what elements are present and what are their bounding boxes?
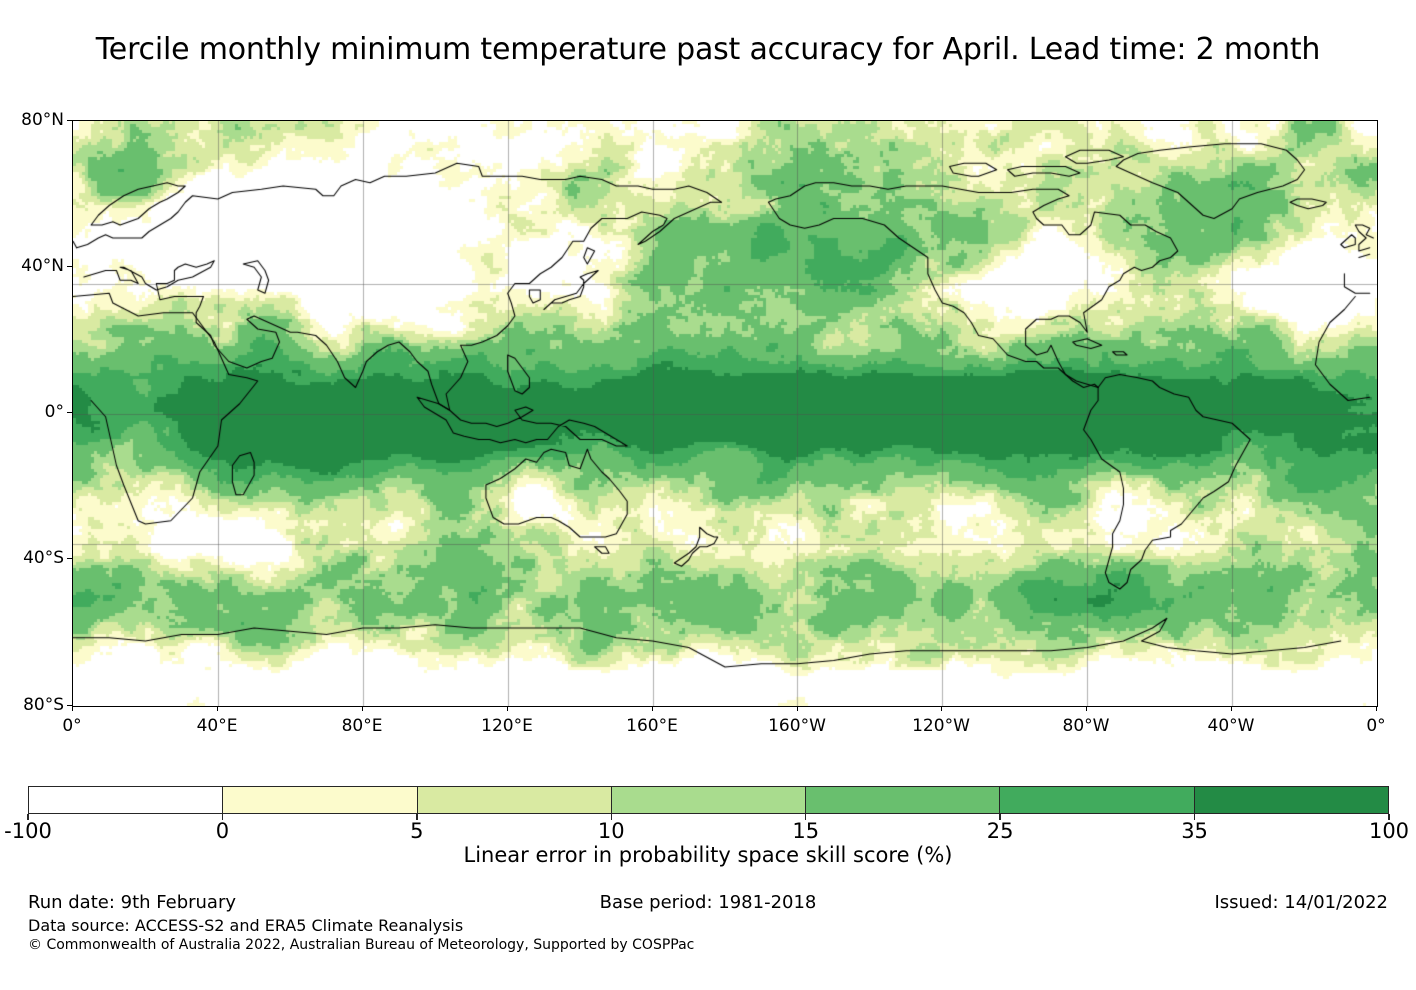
colorbar-band-5	[999, 787, 1193, 813]
colorbar-tick-label-0: -100	[4, 819, 52, 843]
ytick-label-0: 0°	[8, 402, 64, 422]
colorbar-tick-label-4: 15	[792, 819, 819, 843]
colorbar-band-0	[29, 787, 222, 813]
xtick-mark	[217, 706, 218, 711]
colorbar-tick-label-3: 10	[598, 819, 625, 843]
xtick-mark	[1086, 706, 1087, 711]
colorbar-tick-label-5: 25	[987, 819, 1014, 843]
xtick-mark	[941, 706, 942, 711]
xtick-label-0e: 0°	[62, 716, 81, 736]
colorbar	[28, 786, 1389, 814]
footer-base-period: Base period: 1981-2018	[0, 892, 1416, 913]
xtick-label-80e: 80°E	[342, 716, 383, 736]
colorbar-band-2	[417, 787, 611, 813]
xtick-mark	[652, 706, 653, 711]
colorbar-band-3	[611, 787, 805, 813]
xtick-label-160e: 160°E	[626, 716, 678, 736]
ytick-label-80s: 80°S	[8, 695, 64, 715]
xtick-label-80w: 80°W	[1063, 716, 1110, 736]
xtick-label-160w: 160°W	[768, 716, 826, 736]
colorbar-bands	[28, 786, 1389, 814]
ytick-label-40s: 40°S	[8, 548, 64, 568]
colorbar-tick-label-2: 5	[410, 819, 423, 843]
footer: Run date: 9th February Base period: 1981…	[0, 892, 1416, 962]
xtick-mark	[362, 706, 363, 711]
colorbar-band-6	[1194, 787, 1388, 813]
ytick-label-80n: 80°N	[8, 110, 64, 130]
xtick-mark	[72, 706, 73, 711]
page-title: Tercile monthly minimum temperature past…	[0, 32, 1416, 67]
colorbar-band-4	[805, 787, 999, 813]
ytick-label-40n: 40°N	[8, 256, 64, 276]
colorbar-axis-label: Linear error in probability space skill …	[0, 843, 1416, 867]
ytick-mark	[67, 266, 72, 267]
skill-score-heatmap	[73, 121, 1377, 706]
colorbar-tick-label-1: 0	[216, 819, 229, 843]
footer-copyright: © Commonwealth of Australia 2022, Austra…	[28, 937, 694, 953]
xtick-label-120e: 120°E	[481, 716, 533, 736]
footer-data-source: Data source: ACCESS-S2 and ERA5 Climate …	[28, 916, 463, 935]
footer-top-row: Run date: 9th February Base period: 1981…	[0, 892, 1416, 914]
xtick-mark	[1231, 706, 1232, 711]
xtick-mark	[797, 706, 798, 711]
colorbar-tick-label-7: 100	[1369, 819, 1409, 843]
map-plot-area	[72, 120, 1378, 707]
colorbar-tick-label-6: 35	[1181, 819, 1208, 843]
ytick-mark	[67, 120, 72, 121]
ytick-mark	[67, 412, 72, 413]
xtick-label-40w: 40°W	[1208, 716, 1255, 736]
xtick-mark	[1376, 706, 1377, 711]
ytick-mark	[67, 558, 72, 559]
xtick-label-0w: 0°	[1366, 716, 1385, 736]
xtick-mark	[507, 706, 508, 711]
xtick-label-40e: 40°E	[197, 716, 238, 736]
colorbar-band-1	[222, 787, 416, 813]
xtick-label-120w: 120°W	[912, 716, 970, 736]
footer-issued: Issued: 14/01/2022	[1214, 892, 1388, 913]
